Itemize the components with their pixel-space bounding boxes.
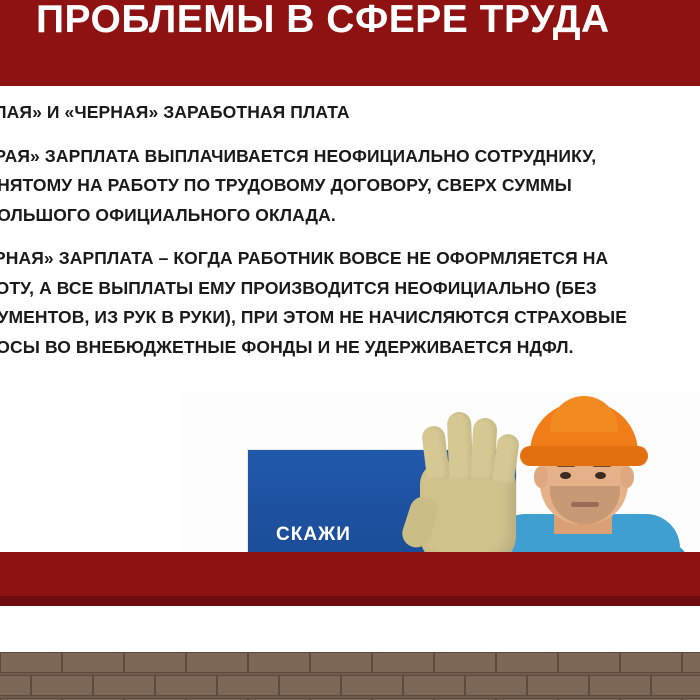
body-paragraph-grey-salary: «СЕРАЯ» ЗАРПЛАТА ВЫПЛАЧИВАЕТСЯ НЕОФИЦИАЛ…	[0, 142, 660, 231]
brick	[217, 675, 279, 696]
hard-hat-crown	[550, 396, 618, 432]
bottom-band	[0, 552, 700, 596]
brick	[527, 675, 589, 696]
hard-hat-brim	[520, 446, 648, 466]
worker-mouth	[571, 502, 599, 507]
worker-ear-left	[534, 466, 548, 488]
bottom-gap	[0, 606, 700, 652]
brick	[651, 675, 700, 696]
worker-ear-right	[620, 466, 634, 488]
brick	[31, 675, 93, 696]
brick	[589, 675, 651, 696]
brick	[0, 675, 31, 696]
brick	[403, 675, 465, 696]
body-paragraph-heading: «БЕЛАЯ» И «ЧЕРНАЯ» ЗАРАБОТНАЯ ПЛАТА	[0, 98, 660, 128]
brick	[465, 675, 527, 696]
brick	[155, 675, 217, 696]
brick	[620, 652, 682, 673]
brick	[682, 652, 700, 673]
brick	[558, 652, 620, 673]
page-title: ПРОБЛЕМЫ В СФЕРЕ ТРУДА	[36, 0, 676, 43]
brick	[0, 652, 62, 673]
brick	[124, 652, 186, 673]
brick-strip	[0, 652, 700, 700]
body-text-block: «БЕЛАЯ» И «ЧЕРНАЯ» ЗАРАБОТНАЯ ПЛАТА «СЕР…	[0, 98, 660, 372]
glove-finger-2	[447, 412, 473, 481]
brick	[341, 675, 403, 696]
body-paragraph-black-salary: «ЧЕРНАЯ» ЗАРПЛАТА – КОГДА РАБОТНИК ВОВСЕ…	[0, 244, 660, 362]
glove-stop-hand-icon	[404, 404, 532, 574]
bottom-band-shadow	[0, 596, 700, 606]
brick	[62, 652, 124, 673]
brick	[186, 652, 248, 673]
worker-eye-left	[560, 472, 571, 479]
brick	[310, 652, 372, 673]
brick	[372, 652, 434, 673]
brick	[248, 652, 310, 673]
brick	[93, 675, 155, 696]
poster-line-skazhi: СКАЖИ	[276, 524, 351, 546]
brick	[434, 652, 496, 673]
slide-canvas: ПРОБЛЕМЫ В СФЕРЕ ТРУДА «БЕЛАЯ» И «ЧЕРНАЯ…	[0, 0, 700, 700]
brick	[279, 675, 341, 696]
worker-eye-right	[595, 472, 606, 479]
brick	[496, 652, 558, 673]
